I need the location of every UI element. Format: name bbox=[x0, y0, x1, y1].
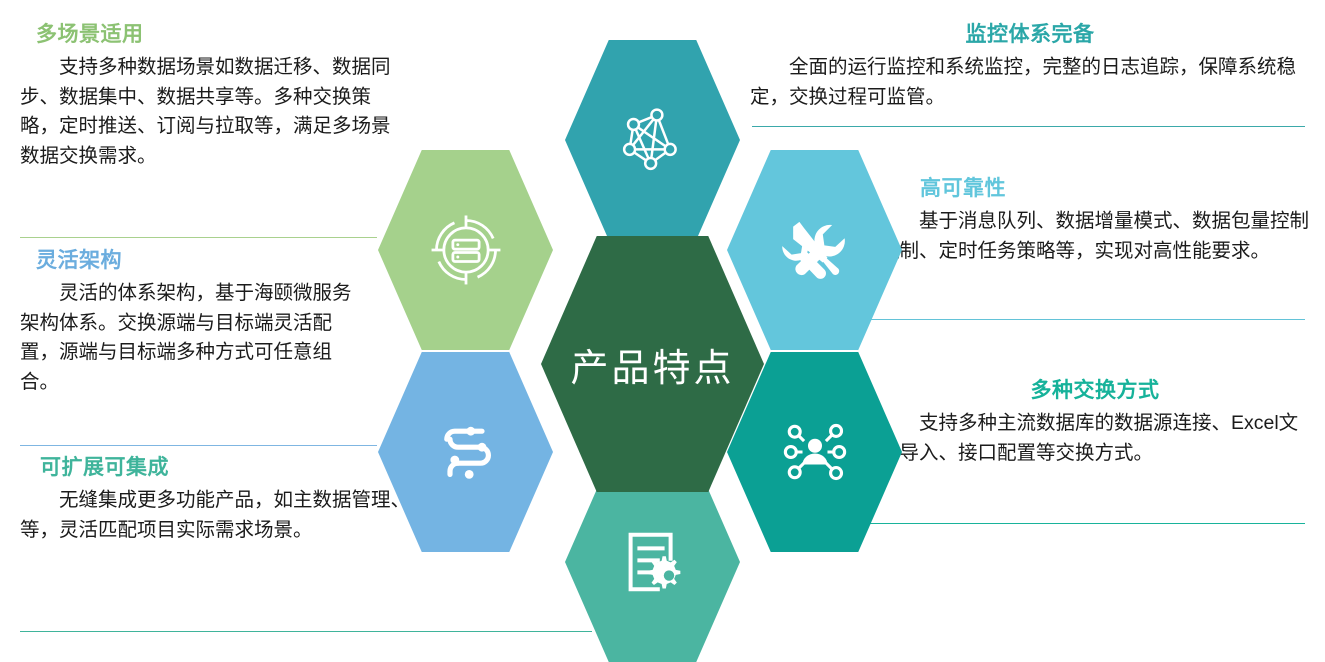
document-gear-icon bbox=[613, 522, 693, 602]
infographic-canvas: 多场景适用 支持多种数据场景如数据迁移、数据同步、数据集中、数据共享等。多种交换… bbox=[0, 0, 1325, 658]
divider-scenario bbox=[20, 237, 377, 238]
feature-block-architecture: 灵活架构 灵活的体系架构，基于海颐微服务架构体系。交换源端与目标端灵活配置，源端… bbox=[20, 248, 370, 398]
divider-exchange-methods bbox=[855, 523, 1305, 524]
flow-route-icon bbox=[426, 412, 506, 492]
hexagon-monitoring[interactable] bbox=[565, 40, 740, 240]
feature-block-scenario: 多场景适用 支持多种数据场景如数据迁移、数据同步、数据集中、数据共享等。多种交换… bbox=[20, 22, 392, 172]
tools-wrench-icon bbox=[776, 211, 854, 289]
feature-heading-scenario: 多场景适用 bbox=[20, 22, 392, 47]
divider-monitoring bbox=[752, 126, 1305, 127]
feature-block-reliability: 高可靠性 基于消息队列、数据增量模式、数据包量控制机制、定时任务策略等，实现对高… bbox=[880, 176, 1310, 266]
divider-extensible bbox=[20, 631, 592, 632]
feature-body-architecture: 灵活的体系架构，基于海颐微服务架构体系。交换源端与目标端灵活配置，源端与目标端多… bbox=[20, 279, 370, 398]
feature-block-exchange-methods: 多种交换方式 支持多种主流数据库的数据源连接、Excel文本导入、接口配置等交换… bbox=[880, 378, 1310, 468]
feature-block-monitoring: 监控体系完备 全面的运行监控和系统监控，完整的日志追踪，保障系统稳定，交换过程可… bbox=[750, 22, 1310, 112]
user-network-icon bbox=[776, 413, 854, 491]
divider-reliability bbox=[855, 319, 1305, 320]
feature-body-scenario: 支持多种数据场景如数据迁移、数据同步、数据集中、数据共享等。多种交换策略，定时推… bbox=[20, 53, 392, 172]
feature-heading-monitoring: 监控体系完备 bbox=[750, 22, 1310, 47]
network-graph-icon bbox=[614, 101, 692, 179]
database-target-icon bbox=[425, 209, 507, 291]
feature-body-monitoring: 全面的运行监控和系统监控，完整的日志追踪，保障系统稳定，交换过程可监管。 bbox=[750, 53, 1310, 112]
hexagon-extensible[interactable] bbox=[565, 462, 740, 662]
feature-heading-architecture: 灵活架构 bbox=[20, 248, 370, 273]
divider-architecture bbox=[20, 445, 377, 446]
hexagon-scenario[interactable] bbox=[378, 150, 553, 350]
feature-heading-exchange-methods: 多种交换方式 bbox=[880, 378, 1310, 403]
feature-heading-reliability: 高可靠性 bbox=[880, 176, 1310, 201]
feature-body-exchange-methods: 支持多种主流数据库的数据源连接、Excel文本导入、接口配置等交换方式。 bbox=[880, 409, 1310, 468]
center-label: 产品特点 bbox=[570, 337, 734, 392]
hexagon-reliability[interactable] bbox=[727, 150, 902, 350]
feature-body-reliability: 基于消息队列、数据增量模式、数据包量控制机制、定时任务策略等，实现对高性能要求。 bbox=[880, 207, 1310, 266]
